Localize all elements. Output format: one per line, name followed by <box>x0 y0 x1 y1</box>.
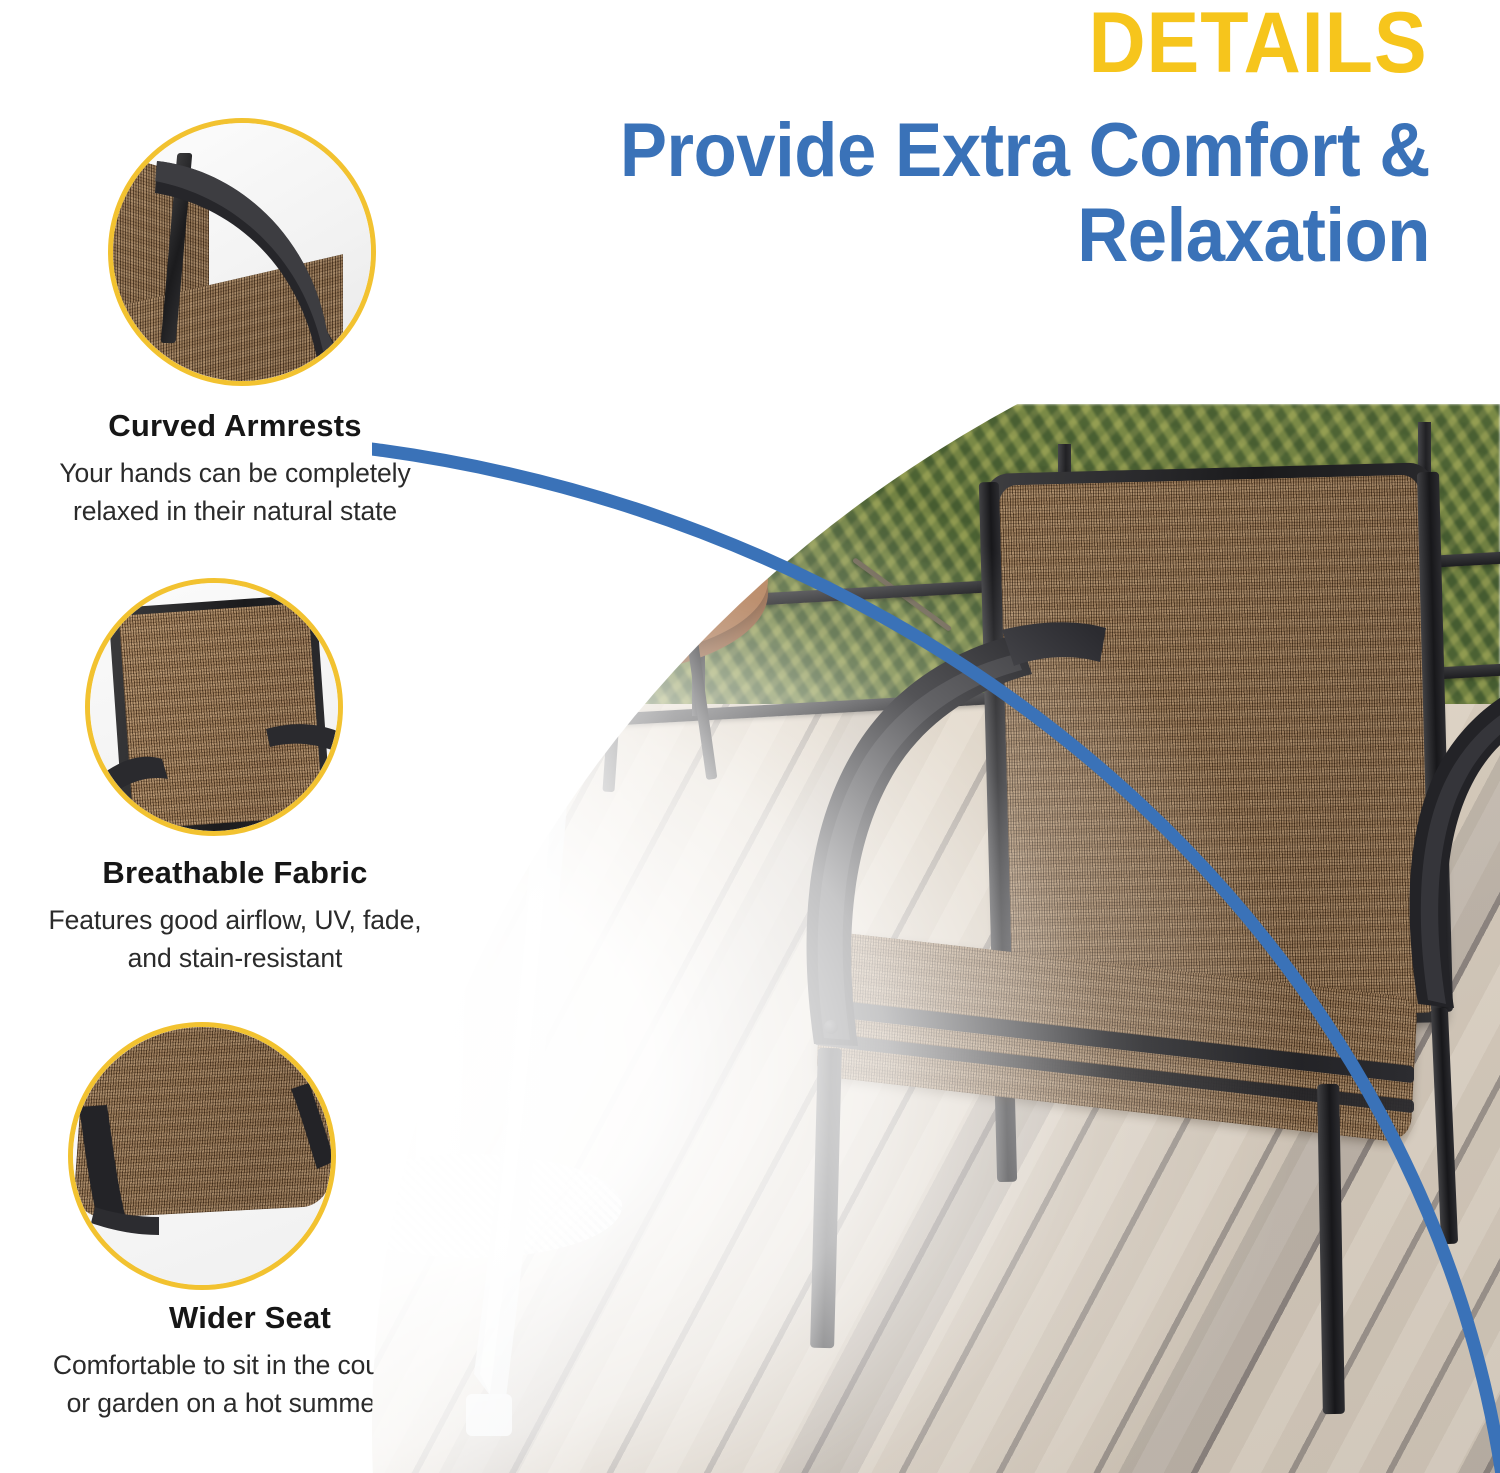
callout-image-curved-armrests <box>113 123 371 381</box>
callout-circle-curved-armrests <box>108 118 376 386</box>
page-title: Provide Extra Comfort & Relaxation <box>333 108 1430 278</box>
product-detail-infographic: DETAILS Provide Extra Comfort & Relaxati… <box>0 0 1500 1473</box>
page-title-line-1: Provide Extra Comfort & <box>333 108 1430 193</box>
magazine-page-curl <box>541 502 620 576</box>
product-scene-photo <box>372 404 1500 1473</box>
callout-image-wider-seat <box>73 1027 331 1285</box>
open-magazine <box>500 487 688 599</box>
callout-circle-breathable-fabric <box>85 578 343 836</box>
page-eyebrow-details: DETAILS <box>1089 0 1428 88</box>
photo-white-fade-overlay <box>372 404 1500 1473</box>
callout-circle-wider-seat <box>68 1022 336 1290</box>
armrest-curve-icon <box>113 123 371 381</box>
page-title-line-2: Relaxation <box>333 193 1430 278</box>
wider-seat-frame-icon <box>73 1027 331 1285</box>
scene-photo-mask <box>372 404 1500 1473</box>
callout-image-breathable-fabric <box>90 583 338 831</box>
fabric-left-arm-icon <box>90 583 338 831</box>
branch-decor <box>583 452 810 503</box>
